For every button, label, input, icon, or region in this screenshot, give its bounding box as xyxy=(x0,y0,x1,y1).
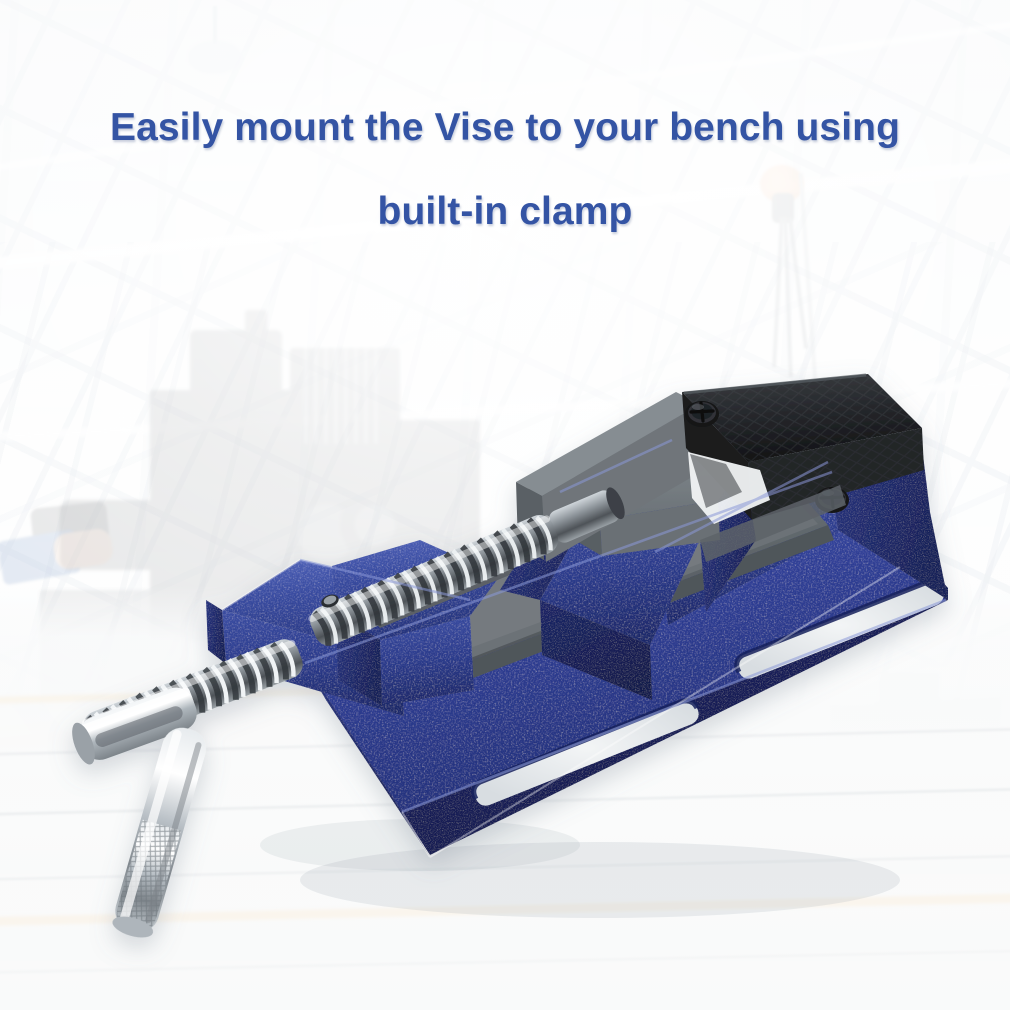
product-image: Easily mount the Vise to your bench usin… xyxy=(0,0,1010,1010)
headline-line-1: Easily mount the Vise to your bench usin… xyxy=(0,86,1010,170)
headline: Easily mount the Vise to your bench usin… xyxy=(0,86,1010,254)
headline-line-2: built-in clamp xyxy=(0,170,1010,254)
